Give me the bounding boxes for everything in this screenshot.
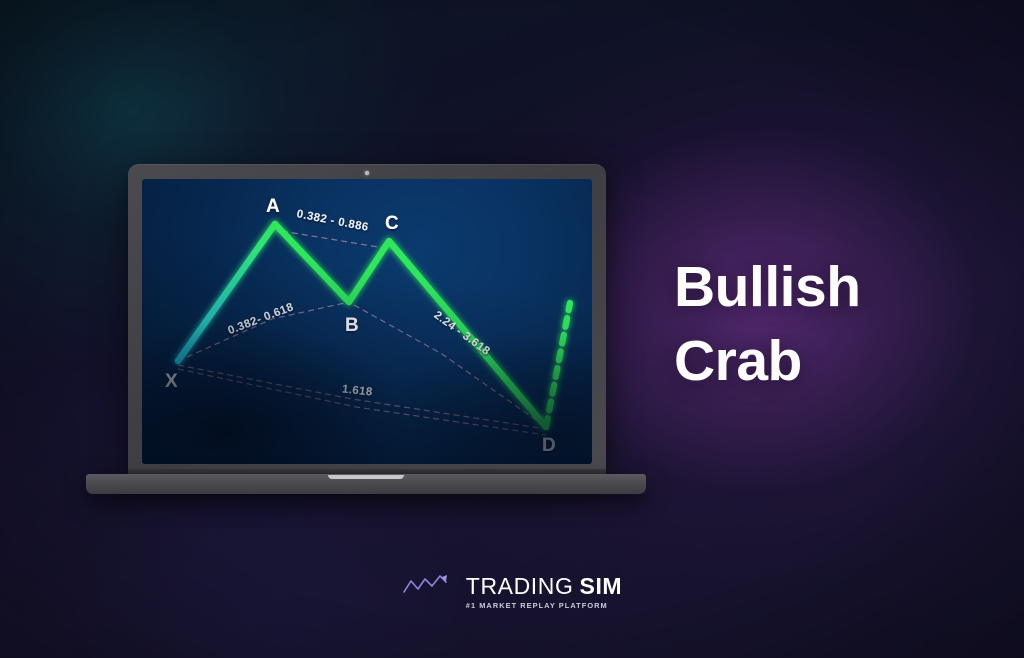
page-title-line-1: Bullish [674,250,1004,324]
point-label-d: D [542,435,556,456]
harmonic-pattern-chart: 0.382 - 0.886 0.382- 0.618 2.24 - 3.618 … [142,179,592,464]
ratio-label-ab: 0.382 - 0.886 [296,208,370,234]
laptop-lid: 0.382 - 0.886 0.382- 0.618 2.24 - 3.618 … [128,164,606,476]
logo-wordmark: TRADING SIM [466,574,622,599]
point-label-b: B [345,315,359,336]
logo-tagline: #1 MARKET REPLAY PLATFORM [466,601,608,610]
leg-projection-dashed [546,303,570,427]
brand-logo: TRADING SIM #1 MARKET REPLAY PLATFORM [0,574,1024,610]
leg-xa [178,224,275,361]
laptop-base [86,474,646,494]
page-title: Bullish Crab [674,250,1004,398]
laptop-screen: 0.382 - 0.886 0.382- 0.618 2.24 - 3.618 … [142,179,592,464]
chart-bars-icon [402,574,456,610]
swing-point-labels: X A B C D [165,196,556,456]
laptop-base-notch [328,475,404,479]
logo-word-trading: TRADING [466,574,574,599]
ratio-label-xb: 0.382- 0.618 [226,301,295,337]
laptop-top-bezel [128,164,606,179]
ratio-label-xd: 1.618 [341,383,373,398]
page-title-line-2: Crab [674,324,1004,398]
logo-text-block: TRADING SIM #1 MARKET REPLAY PLATFORM [466,574,622,610]
leg-ab-bc-cd [275,224,546,427]
ratio-label-bd: 2.24 - 3.618 [431,309,492,358]
laptop-mockup: 0.382 - 0.886 0.382- 0.618 2.24 - 3.618 … [86,164,646,494]
point-label-x: X [165,371,178,392]
logo-word-sim: SIM [580,574,623,599]
point-label-c: C [385,213,399,234]
webcam-icon [365,171,369,175]
guide-x-to-d-2 [178,369,546,435]
point-label-a: A [266,196,280,217]
